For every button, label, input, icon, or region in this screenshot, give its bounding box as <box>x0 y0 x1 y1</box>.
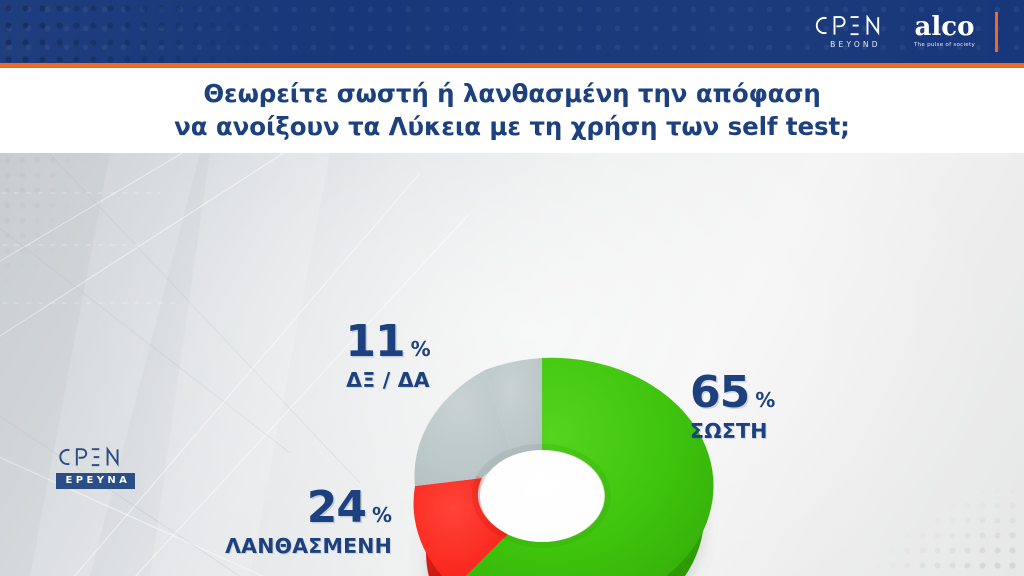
label-dk-value: 11 <box>345 320 404 364</box>
label-correct-name: ΣΩΣΤΗ <box>690 420 870 443</box>
alco-tagline: The pulse of society <box>914 43 975 49</box>
label-dk: 11 % ΔΞ / ΔΑ <box>323 320 453 392</box>
label-dk-percent-symbol: % <box>411 339 431 359</box>
label-wrong-value: 24 <box>307 486 366 530</box>
page-title-line-2: να ανοίξουν τα Λύκεια με τη χρήση των se… <box>174 111 850 143</box>
header-logo-cluster: BEYOND alco The pulse of society <box>810 12 998 52</box>
alco-wordmark: alco <box>915 15 975 40</box>
open-beyond-wordmark-icon <box>810 16 898 36</box>
donut-hole <box>480 450 604 542</box>
open-erevna-badge: ΕΡΕΥΝΑ <box>56 473 135 489</box>
label-dk-name: ΔΞ / ΔΑ <box>323 369 453 392</box>
label-correct-percent-symbol: % <box>755 390 775 410</box>
label-correct: 65 % ΣΩΣΤΗ <box>690 371 870 443</box>
alco-logo: alco The pulse of society <box>912 15 975 48</box>
poll-result-slide: BEYOND alco The pulse of society Θεωρείτ… <box>0 0 1024 576</box>
open-erevna-wordmark-icon <box>54 446 136 468</box>
label-correct-value: 65 <box>690 371 749 415</box>
label-wrong: 24 % ΛΑΝΘΑΣΜΕΝΗ <box>192 486 392 558</box>
label-wrong-name: ΛΑΝΘΑΣΜΕΝΗ <box>192 535 392 558</box>
question-title-band: Θεωρείτε σωστή ή λανθασμένη την απόφαση … <box>0 68 1024 153</box>
label-wrong-percent-symbol: % <box>372 505 392 525</box>
open-beyond-logo: BEYOND <box>810 16 898 49</box>
chart-stage: ΕΡΕΥΝΑ <box>0 153 1024 576</box>
open-beyond-tagline: BEYOND <box>827 41 881 49</box>
page-title-line-1: Θεωρείτε σωστή ή λανθασμένη την απόφαση <box>203 78 820 110</box>
header-accent-bar <box>995 12 998 52</box>
page-header: BEYOND alco The pulse of society <box>0 0 1024 63</box>
open-erevna-logo: ΕΡΕΥΝΑ <box>54 446 136 489</box>
